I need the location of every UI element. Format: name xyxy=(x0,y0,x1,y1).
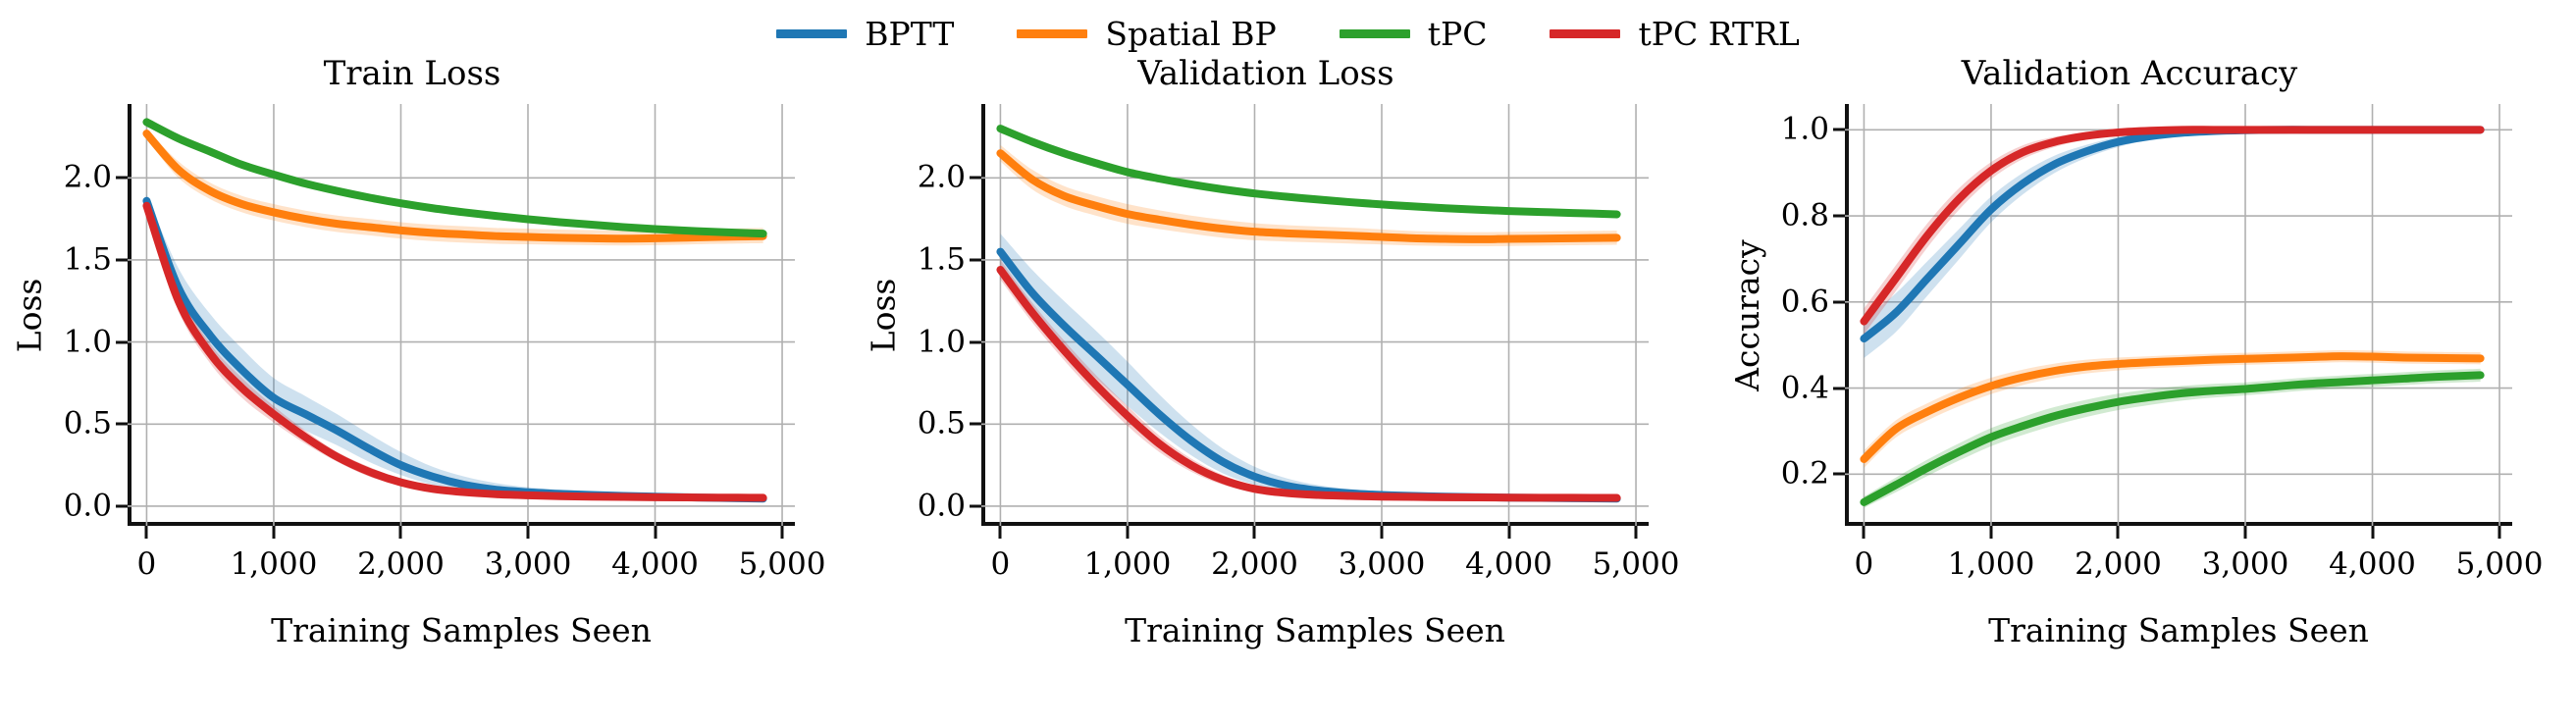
panel-validation-accuracy: Validation AccuracyAccuracyTraining Samp… xyxy=(1727,57,2532,704)
y-tick-label: 2.0 xyxy=(64,163,112,193)
plot-canvas xyxy=(1845,104,2512,526)
x-axis-label: Training Samples Seen xyxy=(981,614,1649,647)
confidence-band xyxy=(1864,369,2480,508)
legend-swatch-icon xyxy=(776,29,847,38)
y-tick-mark xyxy=(970,258,981,261)
panel-train-loss: Train LossLossTraining Samples Seen0.00.… xyxy=(10,57,815,704)
y-tick-mark xyxy=(1833,387,1845,389)
x-tick-mark xyxy=(999,526,1002,539)
series-line xyxy=(146,133,762,238)
x-tick-label: 4,000 xyxy=(1465,549,1552,580)
x-tick-label: 0 xyxy=(1855,549,1874,580)
y-tick-label: 1.0 xyxy=(918,327,966,357)
y-tick-label: 0.6 xyxy=(1781,286,1829,317)
y-tick-label: 0.5 xyxy=(64,409,112,440)
y-tick-mark xyxy=(116,423,128,426)
y-tick-label: 1.5 xyxy=(64,244,112,275)
x-tick-label: 0 xyxy=(991,549,1011,580)
x-tick-mark xyxy=(2117,526,2120,539)
x-tick-mark xyxy=(1989,526,1992,539)
legend-label: tPC RTRL xyxy=(1638,18,1799,50)
legend-label: BPTT xyxy=(865,18,954,50)
x-tick-label: 2,000 xyxy=(1211,549,1298,580)
x-tick-label: 5,000 xyxy=(739,549,826,580)
series-line xyxy=(1864,129,2480,321)
x-tick-label: 0 xyxy=(137,549,157,580)
legend-swatch-icon xyxy=(1017,29,1087,38)
series-line xyxy=(1000,270,1616,498)
x-tick-mark xyxy=(145,526,148,539)
x-tick-mark xyxy=(272,526,275,539)
y-tick-mark xyxy=(116,258,128,261)
plot-area: 0.00.51.01.52.001,0002,0003,0004,0005,00… xyxy=(981,104,1649,526)
x-tick-mark xyxy=(1863,526,1866,539)
y-axis-label: Accuracy xyxy=(1725,104,1768,526)
y-tick-label: 0.5 xyxy=(918,409,966,440)
plot-area: 0.00.51.01.52.001,0002,0003,0004,0005,00… xyxy=(128,104,795,526)
y-axis-label: Loss xyxy=(862,104,905,526)
y-axis-label-text: Loss xyxy=(867,278,900,352)
y-tick-mark xyxy=(970,340,981,343)
x-tick-mark xyxy=(1381,526,1384,539)
y-tick-mark xyxy=(1833,473,1845,476)
x-tick-mark xyxy=(1635,526,1638,539)
plot-canvas xyxy=(981,104,1649,526)
x-tick-label: 3,000 xyxy=(485,549,572,580)
series-line xyxy=(1864,356,2480,459)
grid-lines xyxy=(981,104,1649,526)
y-tick-mark xyxy=(970,504,981,507)
y-tick-label: 2.0 xyxy=(918,163,966,193)
x-tick-mark xyxy=(1253,526,1256,539)
y-tick-label: 0.0 xyxy=(918,491,966,521)
x-axis-label: Training Samples Seen xyxy=(1845,614,2512,647)
x-tick-mark xyxy=(654,526,657,539)
legend-entry[interactable]: Spatial BP xyxy=(1017,18,1276,50)
y-tick-label: 1.0 xyxy=(64,327,112,357)
x-tick-label: 5,000 xyxy=(1593,549,1680,580)
legend-entry[interactable]: BPTT xyxy=(776,18,954,50)
panel-title: Validation Loss xyxy=(864,57,1668,90)
y-tick-mark xyxy=(116,340,128,343)
y-tick-label: 1.5 xyxy=(918,244,966,275)
x-tick-label: 5,000 xyxy=(2456,549,2544,580)
legend-label: Spatial BP xyxy=(1105,18,1276,50)
y-tick-label: 1.0 xyxy=(1781,115,1829,145)
x-tick-label: 1,000 xyxy=(1084,549,1172,580)
panel-validation-loss: Validation LossLossTraining Samples Seen… xyxy=(864,57,1668,704)
figure-container: BPTTSpatial BPtPCtPC RTRL Train LossLoss… xyxy=(0,0,2576,725)
legend-swatch-icon xyxy=(1340,29,1410,38)
y-axis-label-text: Loss xyxy=(14,278,46,352)
x-axis-label: Training Samples Seen xyxy=(128,614,795,647)
y-tick-label: 0.4 xyxy=(1781,373,1829,403)
plot-canvas xyxy=(128,104,795,526)
legend-entry[interactable]: tPC RTRL xyxy=(1550,18,1799,50)
y-tick-mark xyxy=(1833,215,1845,218)
x-tick-mark xyxy=(2244,526,2247,539)
legend-entry[interactable]: tPC xyxy=(1340,18,1488,50)
chart-legend: BPTTSpatial BPtPCtPC RTRL xyxy=(0,14,2576,53)
x-tick-label: 4,000 xyxy=(611,549,699,580)
x-tick-label: 1,000 xyxy=(231,549,318,580)
y-tick-mark xyxy=(1833,300,1845,303)
panel-title: Validation Accuracy xyxy=(1727,57,2532,90)
x-tick-mark xyxy=(1126,526,1129,539)
y-tick-label: 0.0 xyxy=(64,491,112,521)
y-axis-label: Loss xyxy=(8,104,51,526)
confidence-band xyxy=(1000,233,1616,500)
y-tick-label: 0.2 xyxy=(1781,459,1829,490)
panel-title: Train Loss xyxy=(10,57,815,90)
grid-lines xyxy=(128,104,795,526)
x-tick-mark xyxy=(1507,526,1510,539)
y-tick-mark xyxy=(970,177,981,180)
y-axis-label-text: Accuracy xyxy=(1731,239,1763,391)
y-tick-mark xyxy=(1833,129,1845,131)
x-tick-label: 3,000 xyxy=(2202,549,2289,580)
y-tick-mark xyxy=(116,177,128,180)
x-tick-mark xyxy=(2498,526,2501,539)
plot-area: 0.20.40.60.81.001,0002,0003,0004,0005,00… xyxy=(1845,104,2512,526)
x-tick-label: 2,000 xyxy=(357,549,445,580)
legend-swatch-icon xyxy=(1550,29,1620,38)
x-tick-mark xyxy=(527,526,530,539)
legend-label: tPC xyxy=(1428,18,1488,50)
x-tick-mark xyxy=(2371,526,2374,539)
y-tick-mark xyxy=(970,423,981,426)
x-tick-label: 4,000 xyxy=(2329,549,2416,580)
x-tick-mark xyxy=(399,526,402,539)
y-tick-mark xyxy=(116,504,128,507)
x-tick-label: 1,000 xyxy=(1948,549,2035,580)
x-tick-mark xyxy=(781,526,784,539)
y-tick-label: 0.8 xyxy=(1781,201,1829,232)
x-tick-label: 2,000 xyxy=(2075,549,2162,580)
x-tick-label: 3,000 xyxy=(1339,549,1426,580)
